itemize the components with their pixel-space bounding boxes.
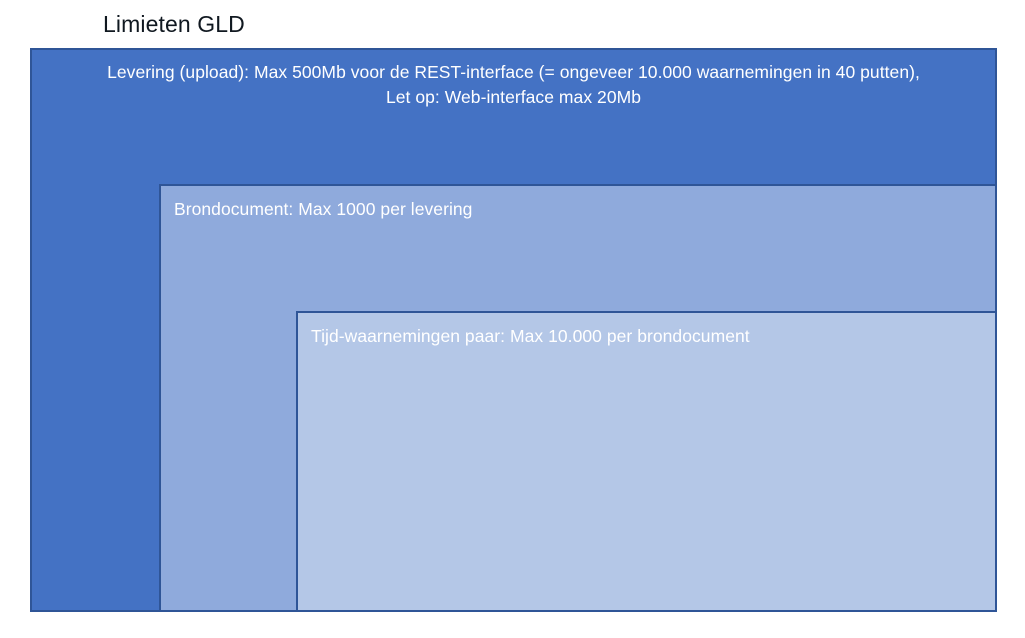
page-title: Limieten GLD: [103, 9, 245, 39]
box-levering-label-line-2: Let op: Web-interface max 20Mb: [44, 85, 983, 110]
box-levering-label: Levering (upload): Max 500Mb voor de RES…: [44, 60, 983, 110]
box-levering-label-line-1: Levering (upload): Max 500Mb voor de RES…: [44, 60, 983, 85]
box-tijdwaarnemingen-paar: Tijd-waarnemingen paar: Max 10.000 per b…: [296, 311, 997, 612]
box-brondocument-label: Brondocument: Max 1000 per levering: [174, 197, 472, 222]
box-tijdwaarnemingen-paar-label: Tijd-waarnemingen paar: Max 10.000 per b…: [311, 324, 750, 349]
diagram-canvas: Limieten GLD Levering (upload): Max 500M…: [0, 0, 1025, 638]
